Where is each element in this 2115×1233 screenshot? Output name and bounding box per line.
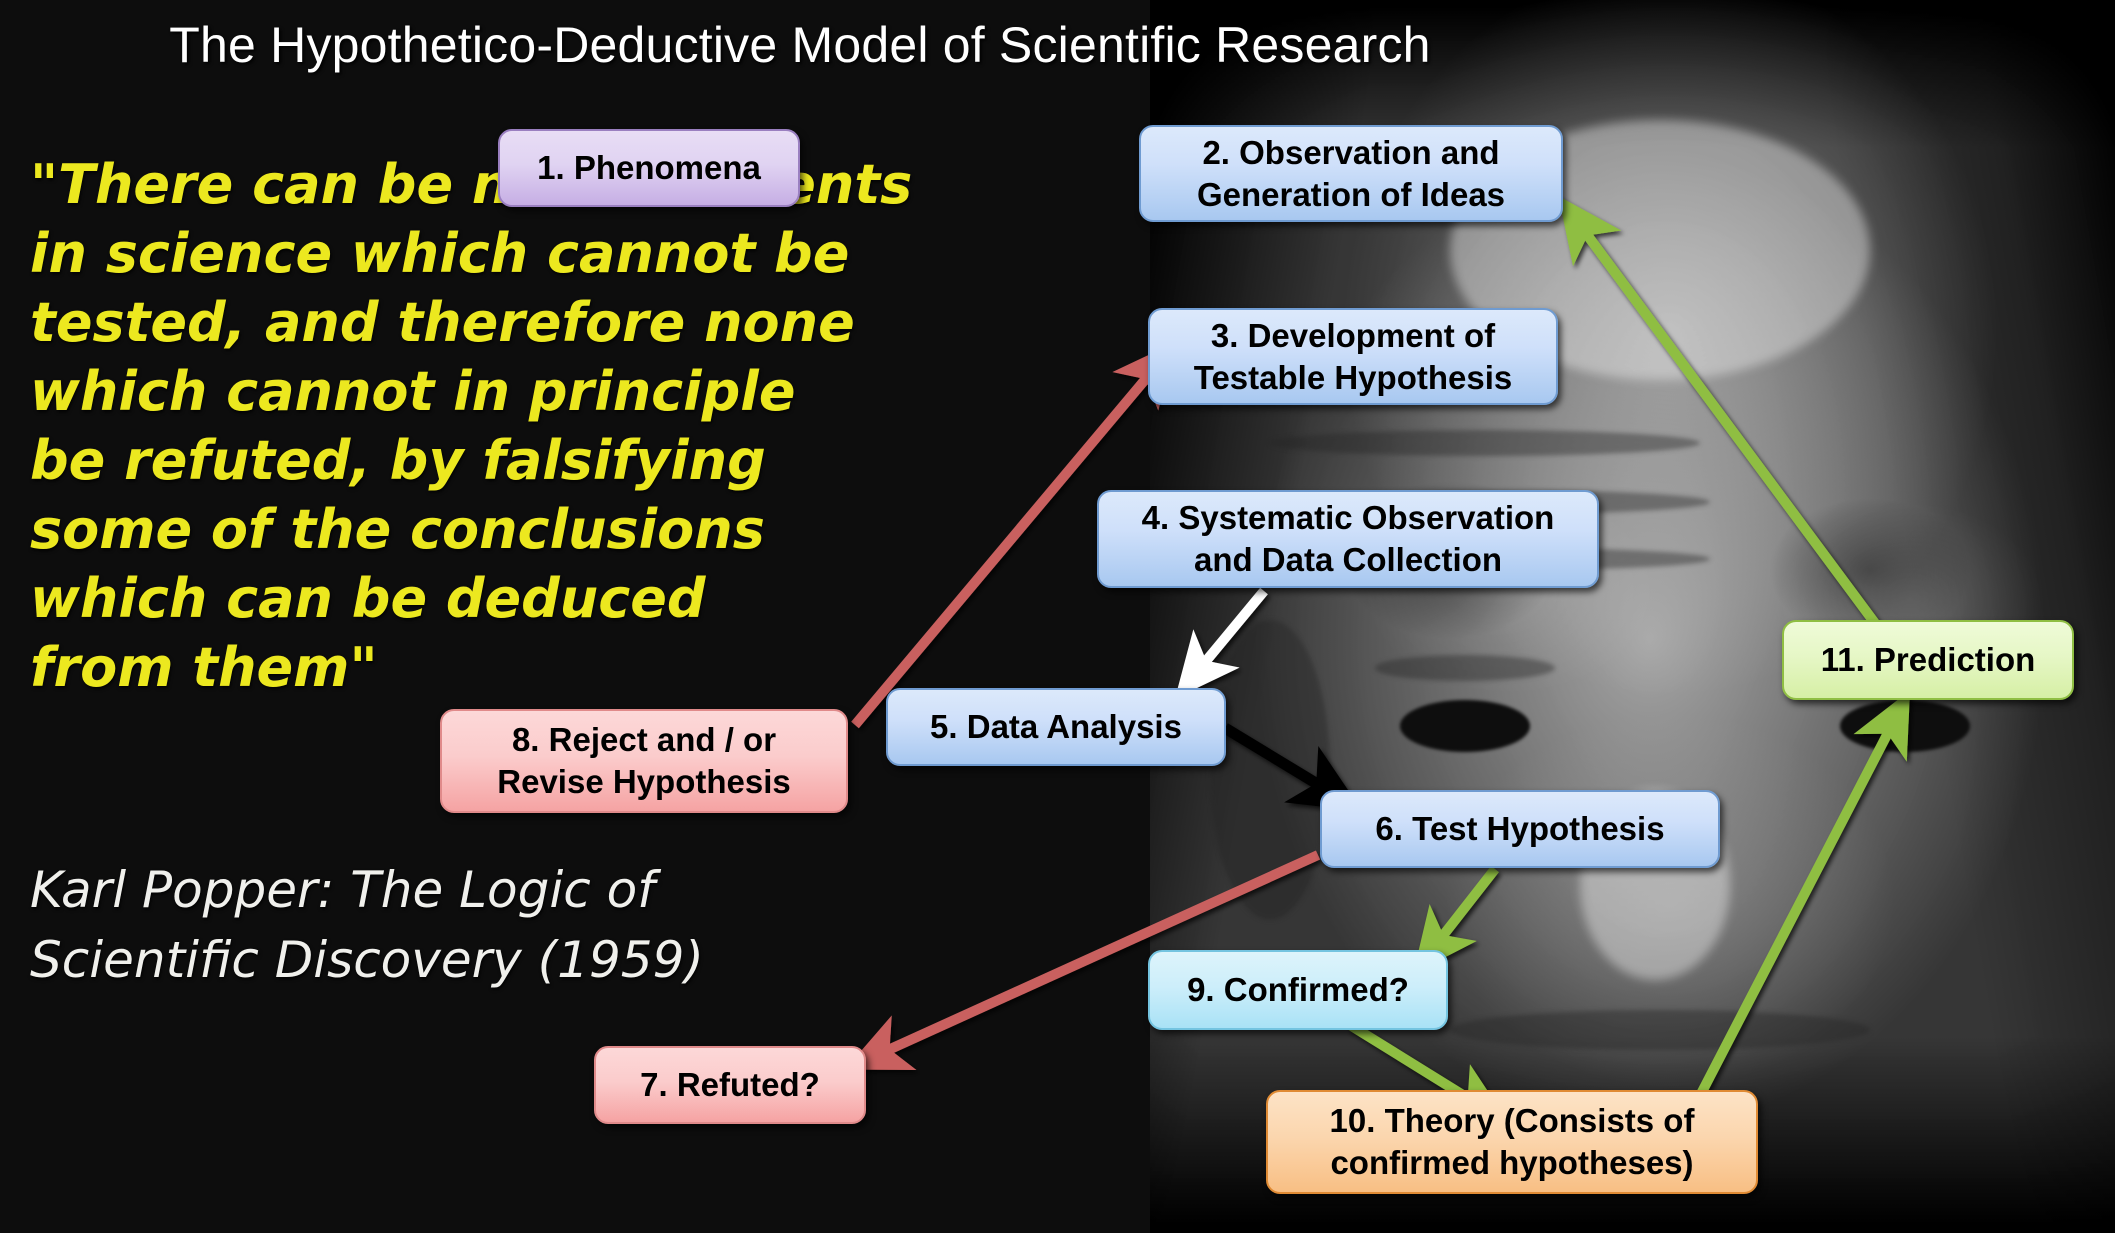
node-1-phenomena[interactable]: 1. Phenomena xyxy=(498,129,800,207)
node-4-label-line-1: 4. Systematic Observation xyxy=(1142,497,1555,539)
node-3-label-line-2: Testable Hypothesis xyxy=(1194,357,1512,399)
edge-systematic-observation-to-data-analysis xyxy=(1182,591,1264,690)
node-9-confirmed[interactable]: 9. Confirmed? xyxy=(1148,950,1448,1030)
node-4-label-line-2: and Data Collection xyxy=(1194,539,1502,581)
node-3-label-line-1: 3. Development of xyxy=(1211,315,1495,357)
attribution-line-2: Scientific Discovery (1959) xyxy=(30,925,810,995)
quote-line-7: which can be deduced xyxy=(30,564,830,633)
node-11-prediction[interactable]: 11. Prediction xyxy=(1782,620,2074,700)
node-2-observation-and-generation-of-ideas[interactable]: 2. Observation and Generation of Ideas xyxy=(1139,125,1563,222)
node-8-label-line-1: 8. Reject and / or xyxy=(512,719,776,761)
node-10-theory[interactable]: 10. Theory (Consists of confirmed hypoth… xyxy=(1266,1090,1758,1194)
node-7-label: 7. Refuted? xyxy=(640,1064,820,1106)
node-3-development-of-testable-hypothesis[interactable]: 3. Development of Testable Hypothesis xyxy=(1148,308,1558,405)
node-8-reject-and-or-revise-hypothesis[interactable]: 8. Reject and / or Revise Hypothesis xyxy=(440,709,848,813)
node-2-label-line-2: Generation of Ideas xyxy=(1197,174,1505,216)
node-10-label-line-1: 10. Theory (Consists of xyxy=(1330,1100,1695,1142)
node-9-label: 9. Confirmed? xyxy=(1187,969,1409,1011)
node-4-systematic-observation-and-data-collection[interactable]: 4. Systematic Observation and Data Colle… xyxy=(1097,490,1599,588)
quote-line-5: be refuted, by falsifying xyxy=(30,426,830,495)
quote-line-6: some of the conclusions xyxy=(30,495,830,564)
popper-quote: "There can be no statements in science w… xyxy=(30,150,830,702)
quote-line-8: from them" xyxy=(30,633,830,702)
node-6-label: 6. Test Hypothesis xyxy=(1375,808,1664,850)
attribution-line-1: Karl Popper: The Logic of xyxy=(30,855,810,925)
node-8-label-line-2: Revise Hypothesis xyxy=(497,761,790,803)
node-1-label: 1. Phenomena xyxy=(537,147,761,189)
slide-canvas: The Hypothetico-Deductive Model of Scien… xyxy=(0,0,2115,1233)
quote-line-3: tested, and therefore none xyxy=(30,288,830,357)
node-10-label-line-2: confirmed hypotheses) xyxy=(1330,1142,1693,1184)
node-5-data-analysis[interactable]: 5. Data Analysis xyxy=(886,688,1226,766)
edge-prediction-to-observation xyxy=(1565,205,1880,630)
node-5-label: 5. Data Analysis xyxy=(930,706,1182,748)
quote-line-4: which cannot in principle xyxy=(30,357,830,426)
quote-attribution: Karl Popper: The Logic of Scientific Dis… xyxy=(30,855,810,995)
quote-line-2: in science which cannot be xyxy=(30,219,830,288)
node-11-label: 11. Prediction xyxy=(1821,639,2036,681)
node-2-label-line-1: 2. Observation and xyxy=(1202,132,1499,174)
node-7-refuted[interactable]: 7. Refuted? xyxy=(594,1046,866,1124)
slide-title: The Hypothetico-Deductive Model of Scien… xyxy=(0,16,1600,74)
edge-theory-to-prediction xyxy=(1690,700,1905,1115)
node-6-test-hypothesis[interactable]: 6. Test Hypothesis xyxy=(1320,790,1720,868)
